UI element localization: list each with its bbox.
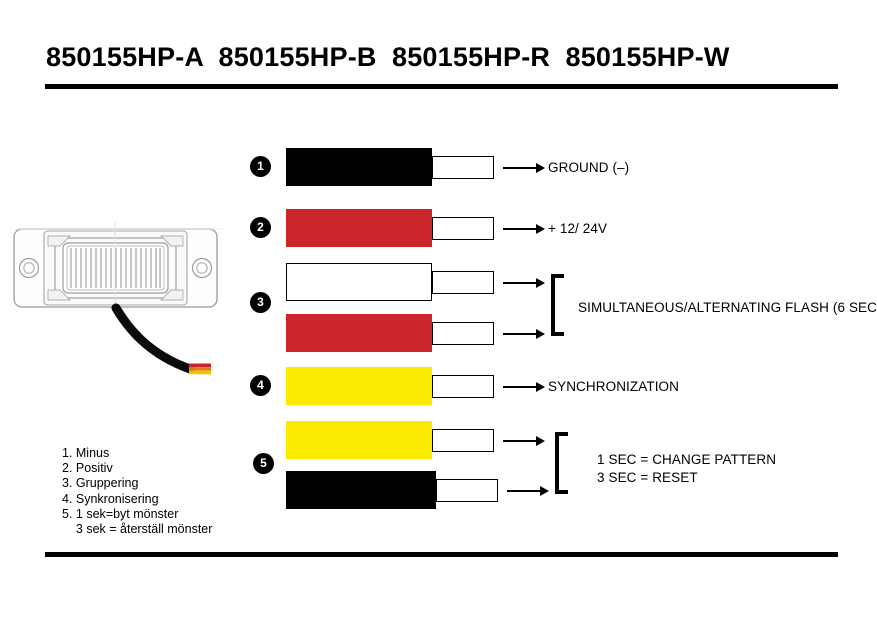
wire-bar-2-red — [286, 209, 432, 247]
wire-terminal-5b — [436, 479, 498, 502]
arrow-shaft — [503, 167, 536, 169]
wire-badge-2: 2 — [250, 217, 271, 238]
wire-terminal-1 — [432, 156, 494, 179]
arrow-2 — [503, 223, 545, 234]
arrow-4 — [503, 381, 545, 392]
wire-terminal-2 — [432, 217, 494, 240]
wire-label-5-line1: 1 SEC = CHANGE PATTERN — [597, 450, 776, 469]
arrow-head — [540, 486, 549, 496]
wire-terminal-3b — [432, 322, 494, 345]
wire-bar-4-yellow — [286, 367, 432, 405]
footer-divider — [45, 552, 838, 557]
arrow-shaft — [507, 490, 540, 492]
wire-label-2: + 12/ 24V — [548, 221, 607, 236]
wire-bar-1-black — [286, 148, 432, 186]
group-bracket-5 — [555, 432, 568, 494]
wire-bar-5-yellow — [286, 421, 432, 459]
arrow-head — [536, 382, 545, 392]
arrow-5b — [507, 485, 549, 496]
wire-label-1: GROUND (–) — [548, 160, 629, 175]
wire-badge-4: 4 — [250, 375, 271, 396]
group-bracket-3 — [551, 274, 564, 336]
arrow-head — [536, 436, 545, 446]
wire-label-3: SIMULTANEOUS/ALTERNATING FLASH (6 SEC) — [578, 300, 877, 315]
wire-bar-3-red — [286, 314, 432, 352]
diagram-sheet: 850155HP-A 850155HP-B 850155HP-R 850155H… — [0, 0, 877, 621]
arrow-head — [536, 224, 545, 234]
arrow-3b — [503, 328, 545, 339]
arrow-shaft — [503, 282, 536, 284]
wire-label-5-line2: 3 SEC = RESET — [597, 468, 698, 487]
arrow-head — [536, 278, 545, 288]
wire-badge-3: 3 — [250, 292, 271, 313]
page-title: 850155HP-A 850155HP-B 850155HP-R 850155H… — [46, 42, 730, 73]
arrow-shaft — [503, 440, 536, 442]
wire-badge-5: 5 — [253, 453, 274, 474]
arrow-head — [536, 329, 545, 339]
wire-terminal-4 — [432, 375, 494, 398]
wire-bar-3-white — [286, 263, 432, 301]
arrow-shaft — [503, 333, 536, 335]
header-divider — [45, 84, 838, 89]
wire-terminal-3a — [432, 271, 494, 294]
wire-terminal-5a — [432, 429, 494, 452]
wire-badge-1: 1 — [250, 156, 271, 177]
arrow-head — [536, 163, 545, 173]
wire-bar-5-black — [286, 471, 436, 509]
wire-label-4: SYNCHRONIZATION — [548, 379, 679, 394]
arrow-5a — [503, 435, 545, 446]
legend-swedish: 1. Minus 2. Positiv 3. Gruppering 4. Syn… — [62, 446, 212, 537]
arrow-shaft — [503, 228, 536, 230]
arrow-1 — [503, 162, 545, 173]
arrow-shaft — [503, 386, 536, 388]
led-lamp-illustration — [8, 216, 236, 396]
arrow-3a — [503, 277, 545, 288]
